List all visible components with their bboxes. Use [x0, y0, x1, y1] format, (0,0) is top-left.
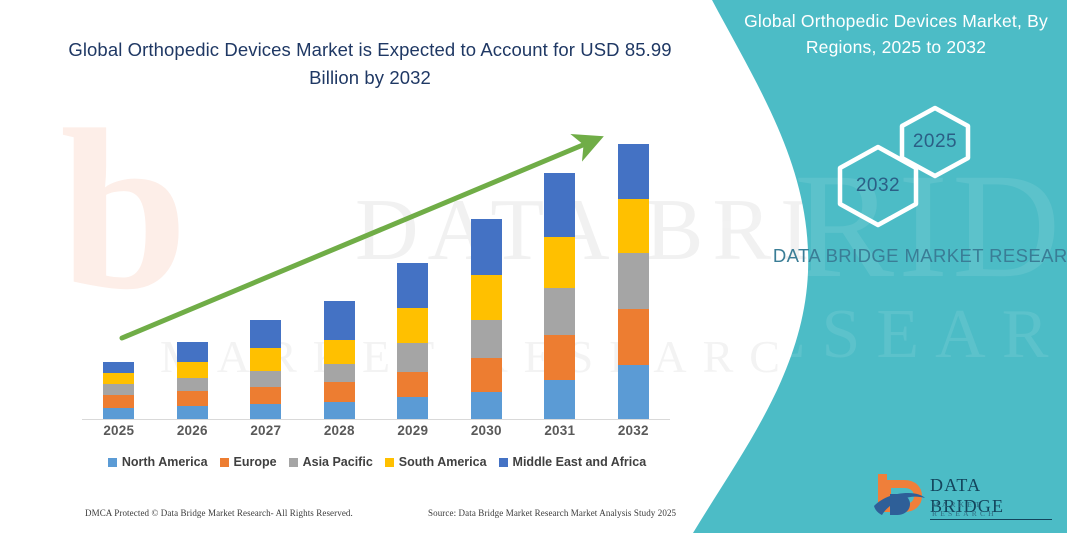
hexagon-2025-label: 2025: [896, 104, 974, 180]
bar-segment: [544, 380, 575, 419]
footer: DMCA Protected © Data Bridge Market Rese…: [0, 508, 690, 528]
bar-segment: [397, 343, 428, 372]
bar-segment: [324, 402, 355, 419]
legend-label: South America: [399, 455, 487, 469]
legend-swatch-icon: [220, 458, 229, 467]
bar-segment: [103, 384, 134, 395]
legend-item[interactable]: Middle East and Africa: [499, 455, 647, 469]
legend-swatch-icon: [499, 458, 508, 467]
data-bridge-b-mark-icon: [872, 472, 926, 518]
footer-copyright: DMCA Protected © Data Bridge Market Rese…: [85, 508, 353, 518]
bar-segment: [103, 408, 134, 420]
bar-group: [376, 127, 450, 419]
chart-x-labels: 20252026202720282029203020312032: [82, 423, 670, 445]
footer-source: Source: Data Bridge Market Research Mark…: [428, 508, 676, 518]
bar-segment: [250, 404, 281, 419]
bar-segment: [471, 320, 502, 358]
bar-group: [82, 127, 156, 419]
bar-segment: [324, 382, 355, 402]
x-axis-label-2026: 2026: [156, 423, 230, 438]
bar-segment: [618, 365, 649, 419]
chart-legend: North AmericaEuropeAsia PacificSouth Ame…: [82, 455, 672, 469]
stacked-bar-chart: [82, 120, 682, 420]
bar-group: [303, 127, 377, 419]
bar-segment: [397, 397, 428, 419]
bar-group: [229, 127, 303, 419]
bar-segment: [324, 301, 355, 340]
stacked-bar: [544, 173, 575, 419]
x-axis-label-2025: 2025: [82, 423, 156, 438]
bar-segment: [250, 348, 281, 370]
bar-segment: [324, 364, 355, 382]
chart-x-axis: [82, 419, 670, 420]
chart-bars: [82, 127, 670, 419]
bar-segment: [103, 373, 134, 384]
x-axis-label-2030: 2030: [450, 423, 524, 438]
legend-swatch-icon: [289, 458, 298, 467]
legend-item[interactable]: Europe: [220, 455, 277, 469]
legend-item[interactable]: North America: [108, 455, 208, 469]
x-axis-label-2032: 2032: [597, 423, 671, 438]
infographic-canvas: b DATA BRIDGE MARKET RESEARCH BRIDGE RES…: [0, 0, 1067, 533]
x-axis-label-2029: 2029: [376, 423, 450, 438]
x-axis-label-2028: 2028: [303, 423, 377, 438]
bar-segment: [177, 378, 208, 391]
bar-segment: [471, 358, 502, 392]
panel-watermark-research: RESEARCH: [700, 295, 1067, 375]
bar-segment: [544, 288, 575, 335]
logo-tagline: MARKET RESEARCH: [932, 500, 1052, 518]
legend-label: Europe: [234, 455, 277, 469]
bar-group: [450, 127, 524, 419]
stacked-bar: [177, 342, 208, 419]
stacked-bar: [103, 362, 134, 419]
bar-segment: [397, 263, 428, 308]
x-axis-label-2027: 2027: [229, 423, 303, 438]
bar-segment: [177, 391, 208, 406]
panel-title: Global Orthopedic Devices Market, By Reg…: [736, 8, 1056, 60]
bar-segment: [471, 392, 502, 419]
page-title: Global Orthopedic Devices Market is Expe…: [60, 36, 680, 92]
stacked-bar: [324, 301, 355, 419]
bar-segment: [618, 144, 649, 199]
stacked-bar: [618, 144, 649, 419]
bar-segment: [618, 253, 649, 309]
bar-segment: [250, 320, 281, 348]
data-bridge-logo: DATA BRIDGE MARKET RESEARCH: [872, 472, 1052, 520]
legend-label: North America: [122, 455, 208, 469]
legend-item[interactable]: Asia Pacific: [289, 455, 373, 469]
stacked-bar: [250, 320, 281, 419]
bar-segment: [177, 342, 208, 362]
bar-segment: [250, 387, 281, 404]
stacked-bar: [471, 219, 502, 419]
panel-brand-text: DATA BRIDGE MARKET RESEARCH: [766, 243, 1067, 269]
bar-group: [156, 127, 230, 419]
bar-segment: [544, 237, 575, 288]
bar-segment: [103, 362, 134, 373]
bar-segment: [324, 340, 355, 364]
bar-group: [597, 127, 671, 419]
bar-segment: [544, 335, 575, 380]
x-axis-label-2031: 2031: [523, 423, 597, 438]
bar-segment: [397, 308, 428, 343]
stacked-bar: [397, 263, 428, 419]
bar-segment: [471, 219, 502, 275]
bar-segment: [250, 371, 281, 387]
bar-segment: [177, 406, 208, 419]
legend-swatch-icon: [108, 458, 117, 467]
bar-segment: [397, 372, 428, 397]
legend-label: Asia Pacific: [303, 455, 373, 469]
bar-segment: [618, 199, 649, 253]
legend-item[interactable]: South America: [385, 455, 487, 469]
bar-group: [523, 127, 597, 419]
bar-segment: [103, 395, 134, 408]
bar-segment: [177, 362, 208, 378]
legend-label: Middle East and Africa: [513, 455, 647, 469]
bar-segment: [544, 173, 575, 237]
hexagon-2025: 2025: [896, 104, 974, 180]
bar-segment: [471, 275, 502, 320]
bar-segment: [618, 309, 649, 365]
legend-swatch-icon: [385, 458, 394, 467]
